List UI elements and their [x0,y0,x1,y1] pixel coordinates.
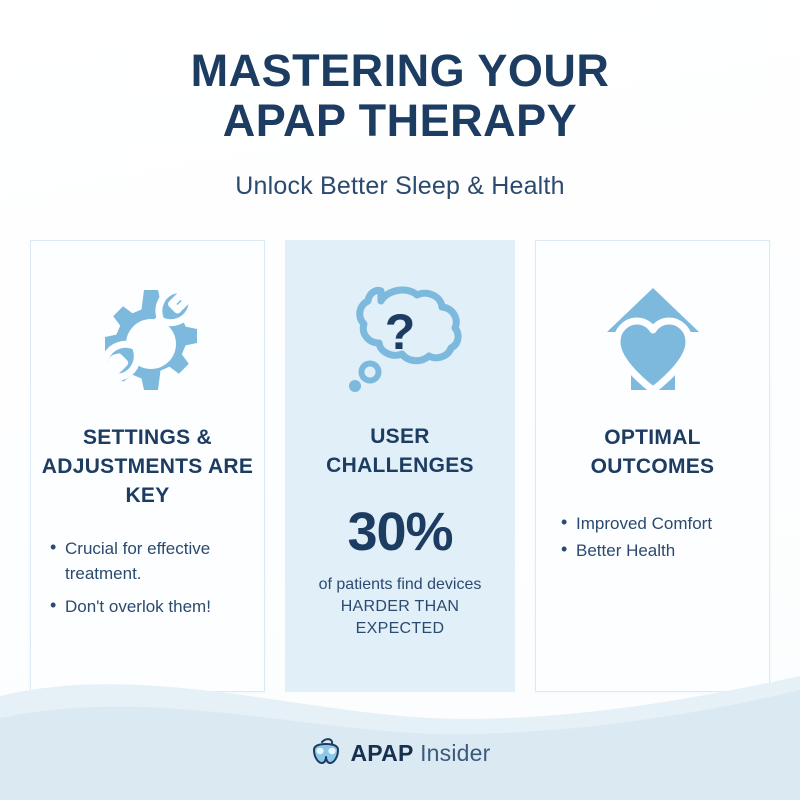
card-bullets-outcomes: Improved Comfort Better Health [536,511,769,565]
list-item: Improved Comfort [576,511,712,536]
cpap-mask-icon [309,738,343,768]
title-line-1: MASTERING YOUR [0,46,800,96]
footer-logo-text: APAP Insider [350,742,490,765]
stat-percentage: 30% [347,504,452,560]
logo-sub-text: Insider [420,740,490,766]
footer-wave-decoration [0,660,800,800]
card-title-outcomes: OPTIMAL OUTCOMES [536,423,769,481]
cards-row: SETTINGS & ADJUSTMENTS ARE KEY Crucial f… [30,240,770,692]
page-subtitle: Unlock Better Sleep & Health [0,172,800,201]
header: MASTERING YOUR APAP THERAPY Unlock Bette… [0,0,800,201]
card-title-settings: SETTINGS & ADJUSTMENTS ARE KEY [31,423,264,510]
stat-caption: of patients find devices HARDER THAN EXP… [307,574,494,640]
stat-caption-line-2: HARDER THAN [319,596,482,618]
list-item: Better Health [576,538,712,563]
gear-wrench-icon [92,281,204,399]
logo-brand: APAP [350,740,413,766]
footer-logo[interactable]: APAP Insider [0,738,800,768]
card-title-challenges: USER CHALLENGES [285,422,515,480]
card-settings: SETTINGS & ADJUSTMENTS ARE KEY Crucial f… [30,240,265,692]
page-title: MASTERING YOUR APAP THERAPY [0,46,800,146]
list-item: Don't overlok them! [65,594,250,619]
stat-caption-line-3: EXPECTED [319,618,482,640]
card-bullets-settings: Crucial for effective treatment. Don't o… [31,536,264,627]
card-user-challenges: ? USER CHALLENGES 30% of patients find d… [285,240,515,692]
up-arrow-heart-icon [603,281,703,399]
list-item: Crucial for effective treatment. [65,536,250,586]
thought-bubble-question-icon: ? [337,280,463,398]
stat-caption-line-1: of patients find devices [319,576,482,593]
svg-text:?: ? [385,304,416,360]
infographic-canvas: MASTERING YOUR APAP THERAPY Unlock Bette… [0,0,800,800]
title-line-2: APAP THERAPY [0,96,800,146]
card-optimal-outcomes: OPTIMAL OUTCOMES Improved Comfort Better… [535,240,770,692]
